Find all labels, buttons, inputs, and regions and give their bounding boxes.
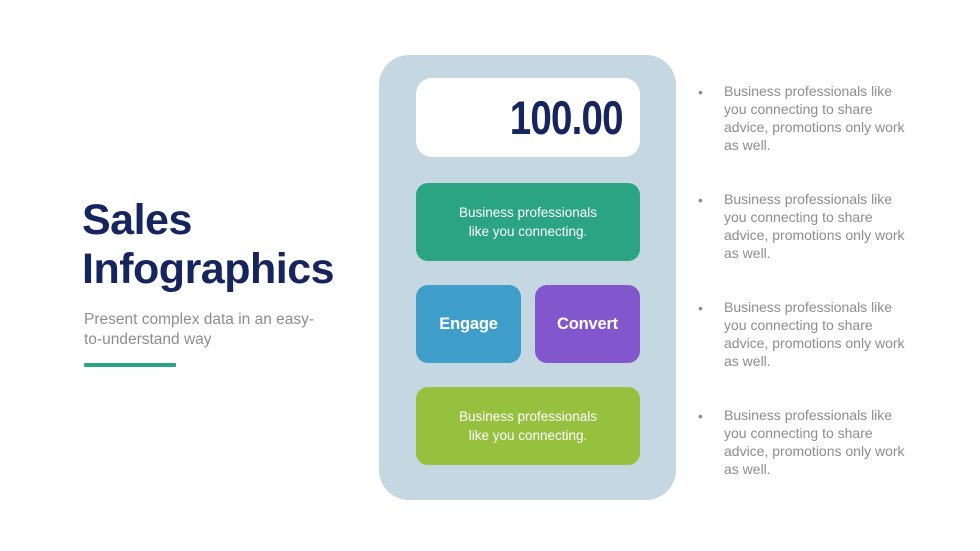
engage-card-label: Engage (439, 315, 497, 334)
bullet-marker-icon: • (698, 406, 724, 425)
bullet-marker-icon: • (698, 190, 724, 209)
value-card[interactable]: 100.00 (416, 78, 640, 157)
list-item: • Business professionals like you connec… (698, 190, 913, 262)
green-caption-text: Business professionals like you connecti… (459, 407, 597, 445)
slide-canvas: Sales Infographics Present complex data … (0, 0, 980, 551)
bullet-list: • Business professionals like you connec… (698, 82, 913, 478)
list-item-text: Business professionals like you connecti… (724, 82, 913, 154)
teal-caption-text: Business professionals like you connecti… (459, 203, 597, 241)
card-stack: 100.00 Business professionals like you c… (416, 78, 640, 465)
list-item-text: Business professionals like you connecti… (724, 406, 913, 478)
convert-card-label: Convert (557, 315, 618, 334)
convert-card[interactable]: Convert (535, 285, 640, 363)
list-item-text: Business professionals like you connecti… (724, 190, 913, 262)
page-title: Sales Infographics (82, 196, 352, 294)
bullet-marker-icon: • (698, 298, 724, 317)
page-subtitle: Present complex data in an easy-to-under… (84, 310, 329, 350)
list-item: • Business professionals like you connec… (698, 406, 913, 478)
title-block: Sales Infographics Present complex data … (82, 196, 352, 350)
infographic-panel: 100.00 Business professionals like you c… (379, 55, 676, 500)
list-item: • Business professionals like you connec… (698, 298, 913, 370)
accent-underline (84, 363, 176, 367)
engage-card[interactable]: Engage (416, 285, 521, 363)
green-caption-card[interactable]: Business professionals like you connecti… (416, 387, 640, 465)
list-item: • Business professionals like you connec… (698, 82, 913, 154)
value-card-number: 100.00 (510, 94, 623, 141)
duo-card-row: Engage Convert (416, 285, 640, 363)
bullet-marker-icon: • (698, 82, 724, 101)
list-item-text: Business professionals like you connecti… (724, 298, 913, 370)
teal-caption-card[interactable]: Business professionals like you connecti… (416, 183, 640, 261)
